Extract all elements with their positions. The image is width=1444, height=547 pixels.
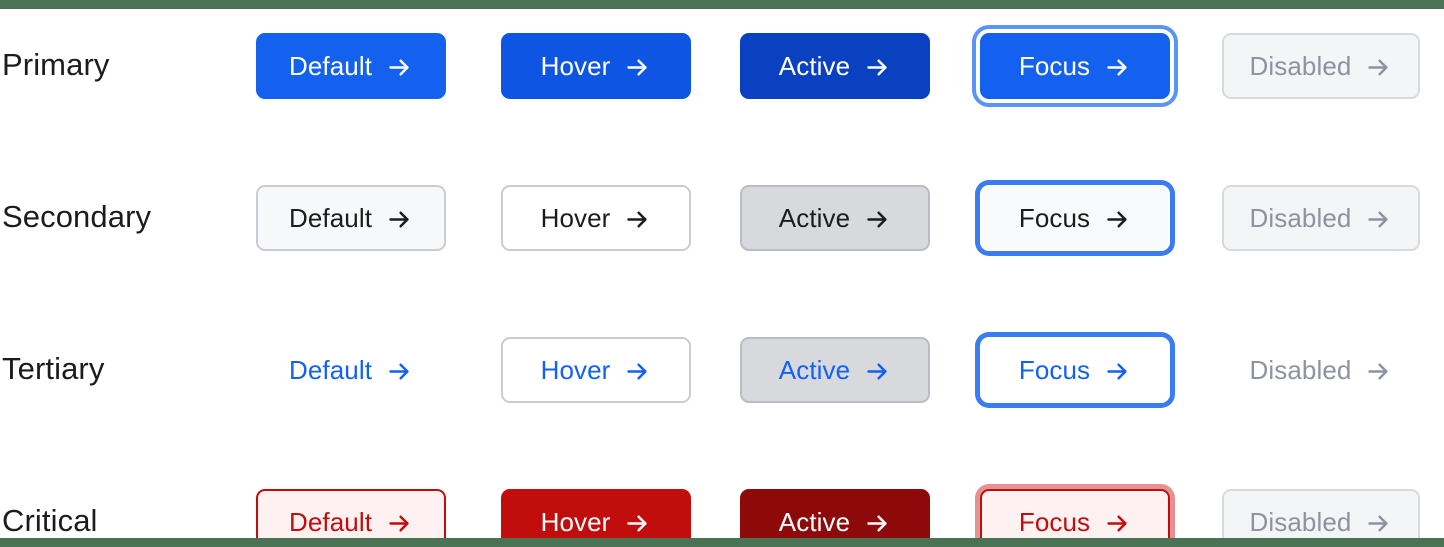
button-label: Disabled [1250,507,1352,537]
button-label: Focus [1019,355,1090,385]
cell-secondary-default: Default [243,175,459,261]
cell-primary-default: Default [243,23,459,109]
button-label: Focus [1019,203,1090,233]
button-tertiary-disabled: Disabled [1222,337,1421,403]
button-secondary-focus[interactable]: Focus [980,185,1170,251]
cell-critical-focus: Focus [967,479,1183,547]
row-label-secondary: Secondary [2,199,151,235]
variant-row-tertiary: Tertiary Default Hover [0,322,1444,474]
arrow-right-icon [624,54,651,81]
button-label: Default [289,203,372,233]
variant-row-primary: Primary Default Hover [0,18,1444,170]
arrow-right-icon [386,510,413,537]
button-states-matrix: Primary Default Hover [0,0,1444,547]
button-primary-focus[interactable]: Focus [980,33,1170,99]
button-label: Focus [1019,507,1090,537]
row-label-primary: Primary [2,47,109,83]
arrow-right-icon [1104,206,1131,233]
arrow-right-icon [1104,358,1131,385]
cell-secondary-disabled: Disabled [1213,175,1429,261]
button-tertiary-hover[interactable]: Hover [501,337,691,403]
arrow-right-icon [386,54,413,81]
button-secondary-disabled: Disabled [1222,185,1421,251]
arrow-right-icon [1365,358,1392,385]
arrow-right-icon [624,510,651,537]
cell-critical-disabled: Disabled [1213,479,1429,547]
cell-tertiary-focus: Focus [967,327,1183,413]
button-label: Active [779,51,850,81]
button-label: Default [289,507,372,537]
button-label: Disabled [1250,203,1352,233]
button-label: Default [289,355,372,385]
cell-tertiary-active: Active [727,327,943,413]
button-label: Disabled [1250,51,1352,81]
button-secondary-active[interactable]: Active [740,185,930,251]
button-label: Hover [541,203,611,233]
arrow-right-icon [1365,54,1392,81]
button-primary-hover[interactable]: Hover [501,33,691,99]
arrow-right-icon [386,358,413,385]
cell-critical-active: Active [727,479,943,547]
row-label-critical: Critical [2,503,98,539]
button-primary-active[interactable]: Active [740,33,930,99]
button-label: Hover [541,507,611,537]
arrow-right-icon [1365,206,1392,233]
arrow-right-icon [624,358,651,385]
cell-secondary-hover: Hover [488,175,704,261]
button-label: Active [779,507,850,537]
arrow-right-icon [1365,510,1392,537]
cell-critical-hover: Hover [488,479,704,547]
arrow-right-icon [386,206,413,233]
arrow-right-icon [624,206,651,233]
button-label: Hover [541,355,611,385]
button-primary-default[interactable]: Default [256,33,446,99]
button-label: Active [779,355,850,385]
arrow-right-icon [864,54,891,81]
arrow-right-icon [1104,54,1131,81]
frame-bottom-border [0,538,1444,547]
button-label: Focus [1019,51,1090,81]
cell-tertiary-disabled: Disabled [1213,327,1429,413]
cell-tertiary-hover: Hover [488,327,704,413]
button-label: Hover [541,51,611,81]
button-primary-disabled: Disabled [1222,33,1421,99]
arrow-right-icon [864,510,891,537]
button-tertiary-default[interactable]: Default [256,337,446,403]
arrow-right-icon [1104,510,1131,537]
row-label-tertiary: Tertiary [2,351,104,387]
cell-primary-focus: Focus [967,23,1183,109]
cell-primary-active: Active [727,23,943,109]
cell-secondary-focus: Focus [967,175,1183,261]
button-tertiary-focus[interactable]: Focus [980,337,1170,403]
cell-primary-disabled: Disabled [1213,23,1429,109]
variant-row-secondary: Secondary Default Hover [0,170,1444,322]
variant-row-critical: Critical Default Hover [0,474,1444,547]
button-secondary-hover[interactable]: Hover [501,185,691,251]
button-secondary-default[interactable]: Default [256,185,446,251]
arrow-right-icon [864,358,891,385]
cell-primary-hover: Hover [488,23,704,109]
button-label: Disabled [1250,355,1352,385]
button-label: Default [289,51,372,81]
arrow-right-icon [864,206,891,233]
button-tertiary-active[interactable]: Active [740,337,930,403]
cell-critical-default: Default [243,479,459,547]
cell-tertiary-default: Default [243,327,459,413]
button-label: Active [779,203,850,233]
cell-secondary-active: Active [727,175,943,261]
